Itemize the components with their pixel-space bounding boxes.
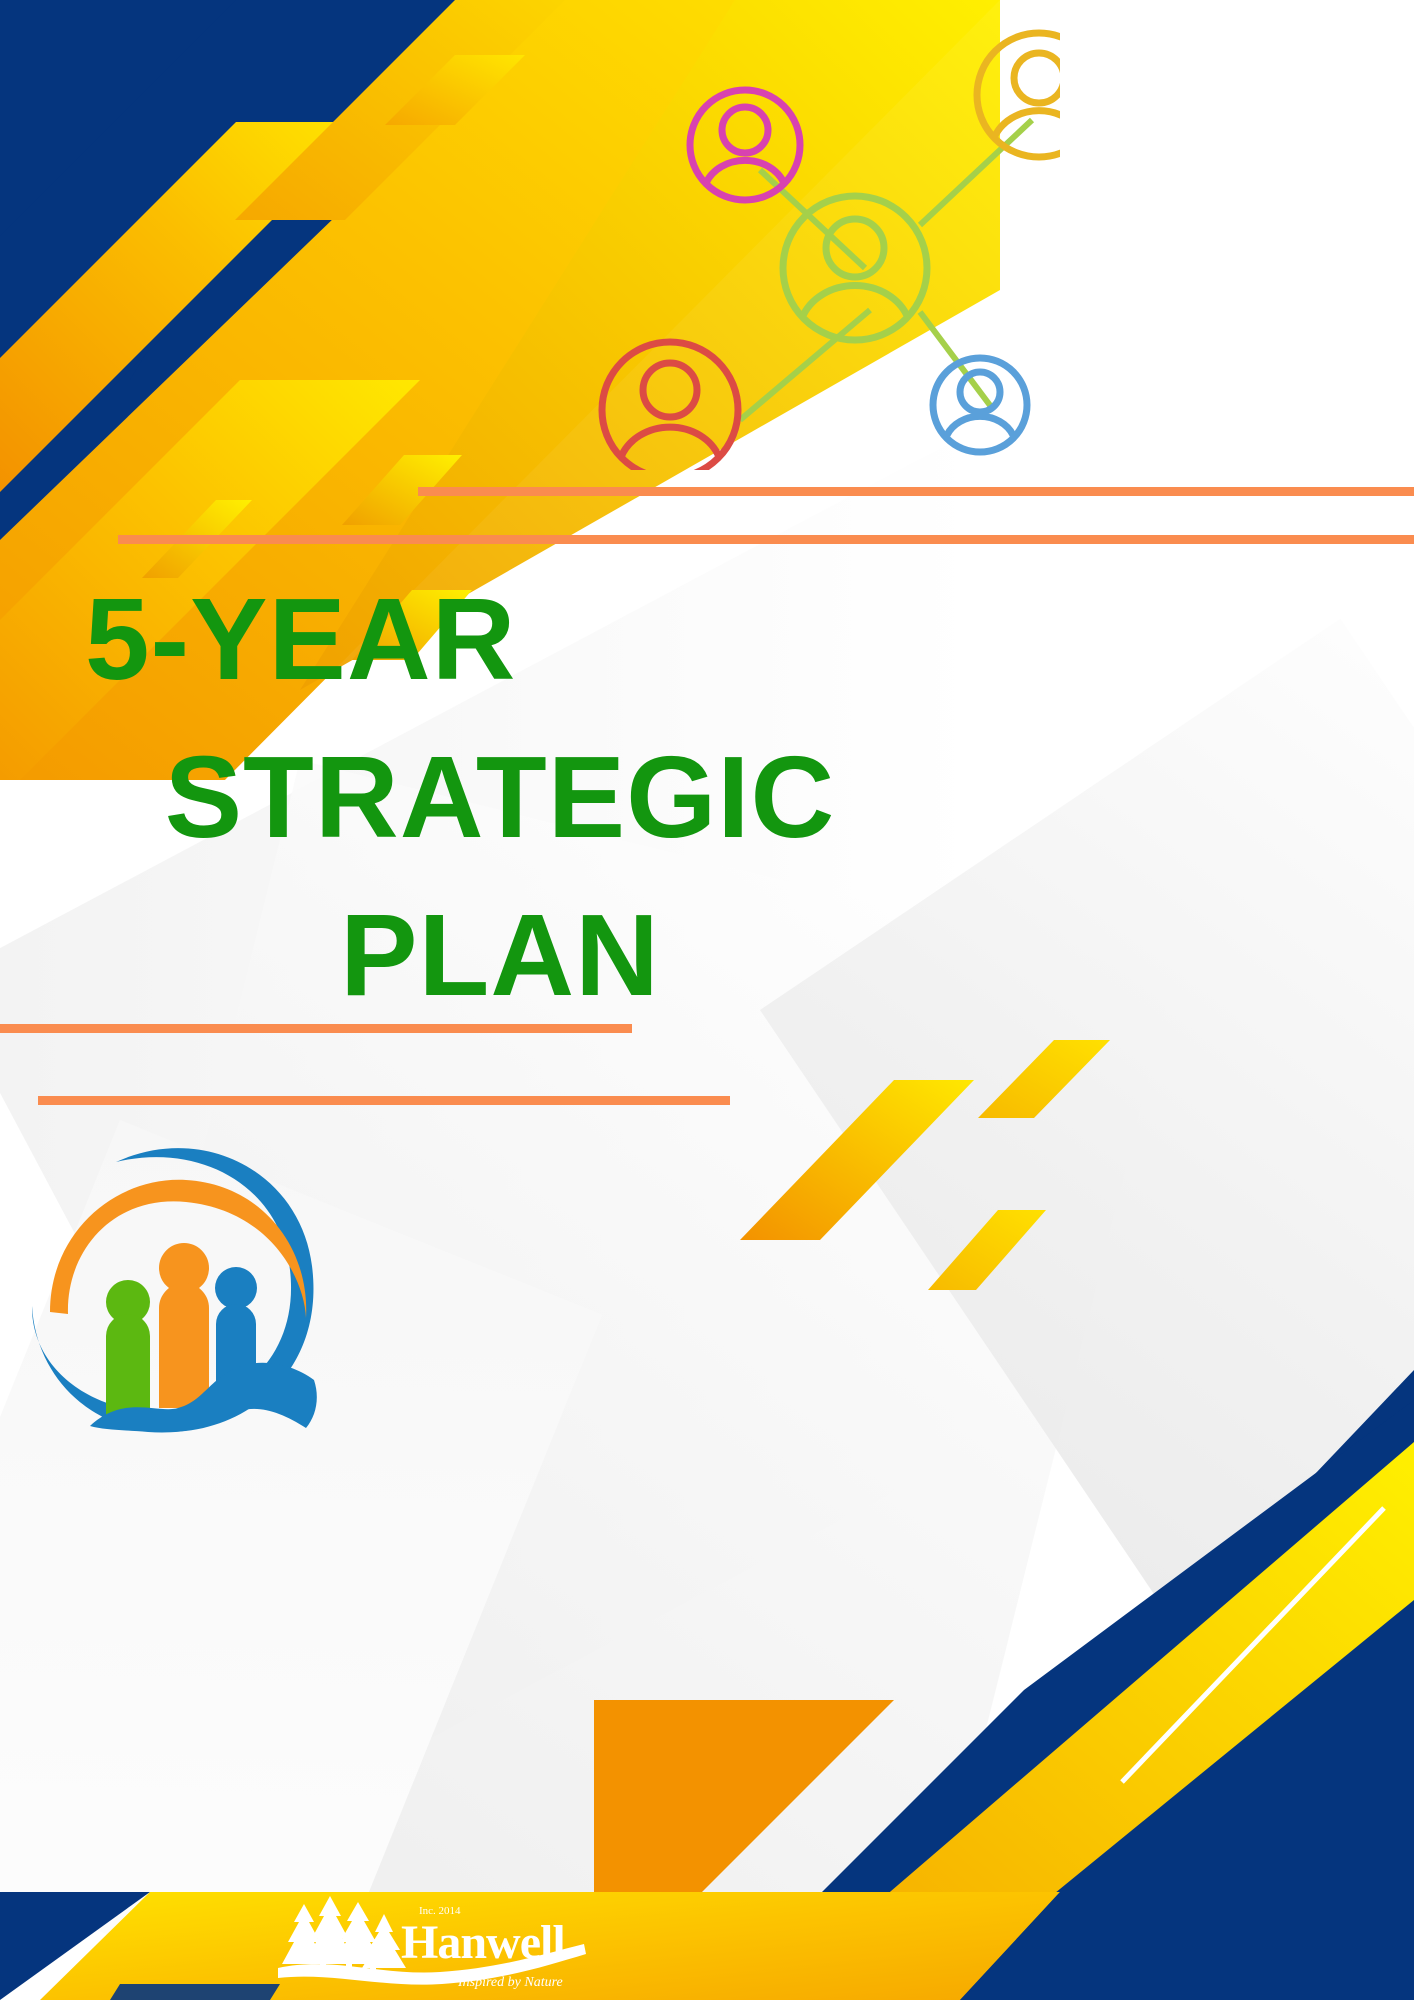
- person-icon-green-center: [783, 196, 927, 340]
- page-title: 5-YEAR STRATEGIC PLAN: [0, 560, 1000, 1034]
- orange-person: [159, 1243, 209, 1408]
- person-icon-magenta: [690, 90, 800, 200]
- person-icon-gold: [977, 33, 1060, 157]
- brand-tagline: Inspired by Nature: [457, 1975, 563, 1990]
- gold-tick-br-2: [928, 1210, 1046, 1290]
- gold-tick-br-1: [978, 1040, 1110, 1118]
- pine-trees-icon: [282, 1896, 406, 1972]
- accent-rule-bottom-1: [0, 1024, 632, 1033]
- document-cover-page: 5-YEAR STRATEGIC PLAN: [0, 0, 1414, 2000]
- accent-rule-top-1: [418, 487, 1414, 496]
- gold-stripe-br-1: [740, 1080, 974, 1240]
- person-icon-blue: [933, 358, 1027, 452]
- title-line-2: STRATEGIC: [0, 718, 1000, 876]
- green-person: [106, 1280, 150, 1420]
- footer-band: [0, 1892, 1414, 2000]
- people-network-diagram: [580, 20, 1060, 470]
- hanwell-brand-logo: Inc. 2014 Hanwell Inspired by Nature: [262, 1892, 592, 1996]
- person-icon-red: [602, 342, 738, 470]
- accent-rule-top-2: [118, 535, 1414, 544]
- edge-center-to-gold: [920, 120, 1032, 225]
- bottom-right-corner-decoration: [594, 1040, 1414, 2000]
- edge-center-to-red: [740, 310, 870, 420]
- title-line-1: 5-YEAR: [0, 560, 1000, 718]
- brand-name: Hanwell: [401, 1916, 565, 1969]
- community-care-logo: [28, 1136, 328, 1436]
- title-line-3: PLAN: [0, 876, 1000, 1034]
